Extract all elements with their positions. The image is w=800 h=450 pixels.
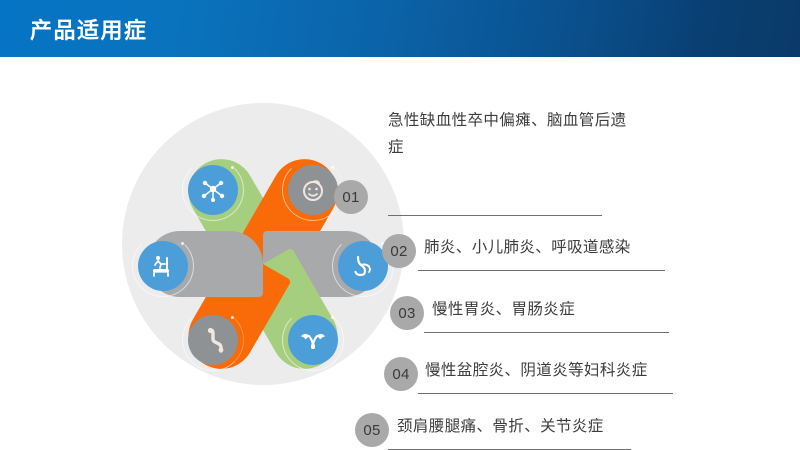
item-text: 肺炎、小儿肺炎、呼吸道感染	[424, 234, 684, 261]
item-underline	[418, 270, 665, 271]
page-title: 产品适用症	[30, 13, 148, 45]
item-number-badge: 01	[334, 180, 368, 214]
item-number-badge: 03	[390, 296, 424, 330]
item-underline	[418, 393, 673, 394]
bone-joint-glyph	[199, 326, 227, 354]
item-underline	[424, 332, 669, 333]
treadmill-rehab-glyph	[149, 252, 177, 280]
header-bar: 产品适用症	[0, 0, 800, 57]
item-text: 急性缺血性卒中偏瘫、脑血管后遗 症	[388, 107, 658, 161]
neuron-molecule-glyph	[200, 177, 226, 203]
item-number-badge: 05	[355, 413, 389, 447]
indications-list: 01 急性缺血性卒中偏瘫、脑血管后遗 症 02 肺炎、小儿肺炎、呼吸道感染 03…	[0, 57, 800, 450]
item-text: 慢性盆腔炎、阴道炎等妇科炎症	[425, 357, 695, 384]
baby-face-glyph	[299, 176, 327, 204]
stomach-glyph	[349, 252, 377, 280]
slide-body: 01 急性缺血性卒中偏瘫、脑血管后遗 症 02 肺炎、小儿肺炎、呼吸道感染 03…	[0, 57, 800, 450]
item-number-badge: 04	[384, 357, 418, 391]
item-underline	[388, 215, 602, 216]
item-text: 慢性胃炎、胃肠炎症	[432, 296, 692, 323]
item-number-badge: 02	[382, 234, 416, 268]
item-text: 颈肩腰腿痛、骨折、关节炎症	[397, 413, 667, 440]
uterus-glyph	[299, 326, 327, 354]
